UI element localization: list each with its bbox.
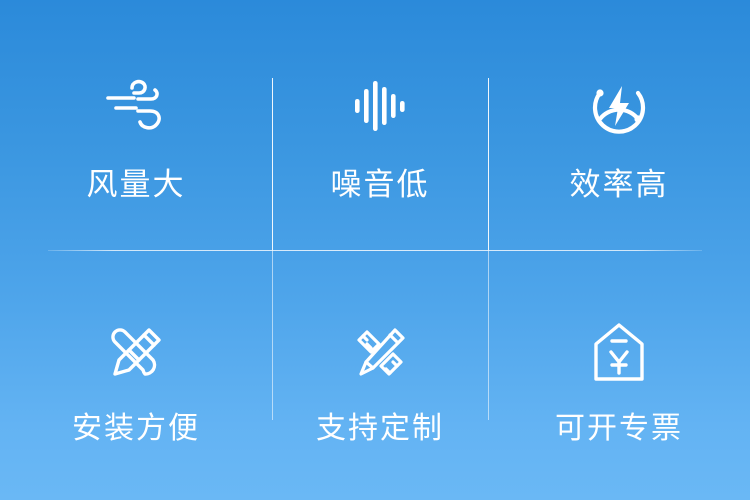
price-tag-yuan-icon xyxy=(592,316,646,390)
feature-cell-easy-install: 安装方便 xyxy=(0,250,272,500)
feature-cell-air-volume: 风量大 xyxy=(0,0,272,250)
pencil-ruler-icon xyxy=(349,316,411,390)
feature-cell-invoice: 可开专票 xyxy=(488,250,750,500)
wind-icon xyxy=(102,69,170,143)
feature-label-custom-support: 支持定制 xyxy=(316,414,444,444)
feature-grid: 风量大 噪音低 xyxy=(0,0,750,500)
sound-wave-icon xyxy=(353,69,407,143)
feature-cell-low-noise: 噪音低 xyxy=(272,0,488,250)
feature-cell-custom-support: 支持定制 xyxy=(272,250,488,500)
wrench-screwdriver-icon xyxy=(105,316,167,390)
feature-label-high-efficiency: 效率高 xyxy=(570,169,669,200)
feature-banner: 风量大 噪音低 xyxy=(0,0,750,500)
feature-cell-high-efficiency: 效率高 xyxy=(488,0,750,250)
feature-label-air-volume: 风量大 xyxy=(87,169,186,200)
lightning-cycle-icon xyxy=(586,69,652,143)
feature-label-easy-install: 安装方便 xyxy=(72,414,200,444)
feature-label-invoice: 可开专票 xyxy=(555,414,683,444)
feature-label-low-noise: 噪音低 xyxy=(331,169,430,200)
